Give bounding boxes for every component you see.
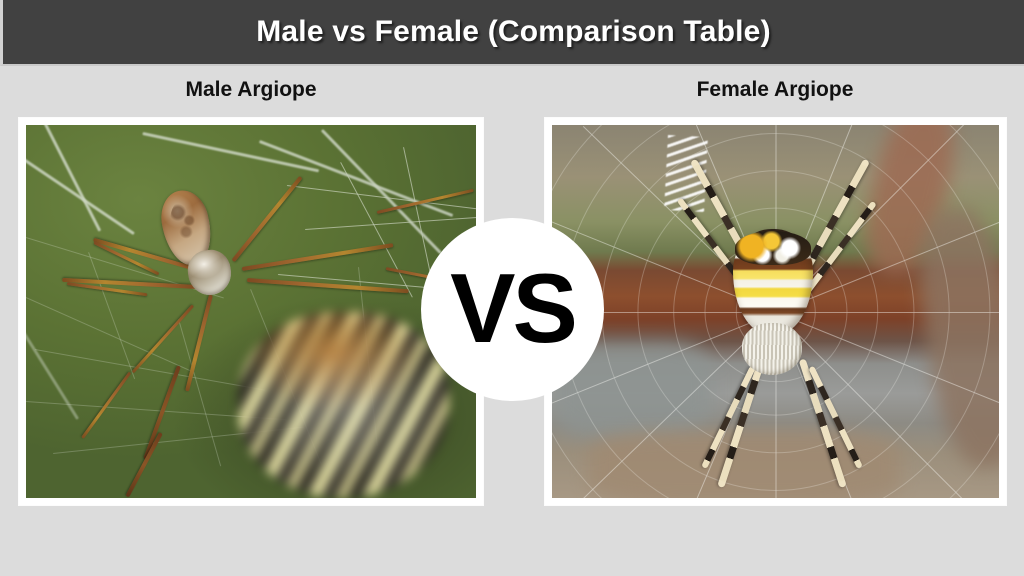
vs-label: VS: [450, 259, 575, 357]
female-spider-illustration: [552, 125, 999, 498]
caption-row: Male Argiope Female Argiope: [0, 66, 1024, 118]
photo-male-argiope: [26, 125, 476, 498]
photo-frame-female: [545, 118, 1006, 505]
panel-caption-male: Male Argiope: [19, 78, 483, 102]
female-abdomen-spots: [735, 231, 811, 265]
vs-divider-badge: VS: [421, 218, 604, 401]
photo-female-argiope: [552, 125, 999, 498]
page-title: Male vs Female (Comparison Table): [256, 15, 771, 49]
male-spider-illustration: [26, 125, 476, 498]
panel-caption-female: Female Argiope: [545, 78, 1005, 102]
female-cephalothorax: [742, 323, 802, 375]
photo-frame-male: [19, 118, 483, 505]
header-bar: Male vs Female (Comparison Table): [0, 0, 1024, 66]
